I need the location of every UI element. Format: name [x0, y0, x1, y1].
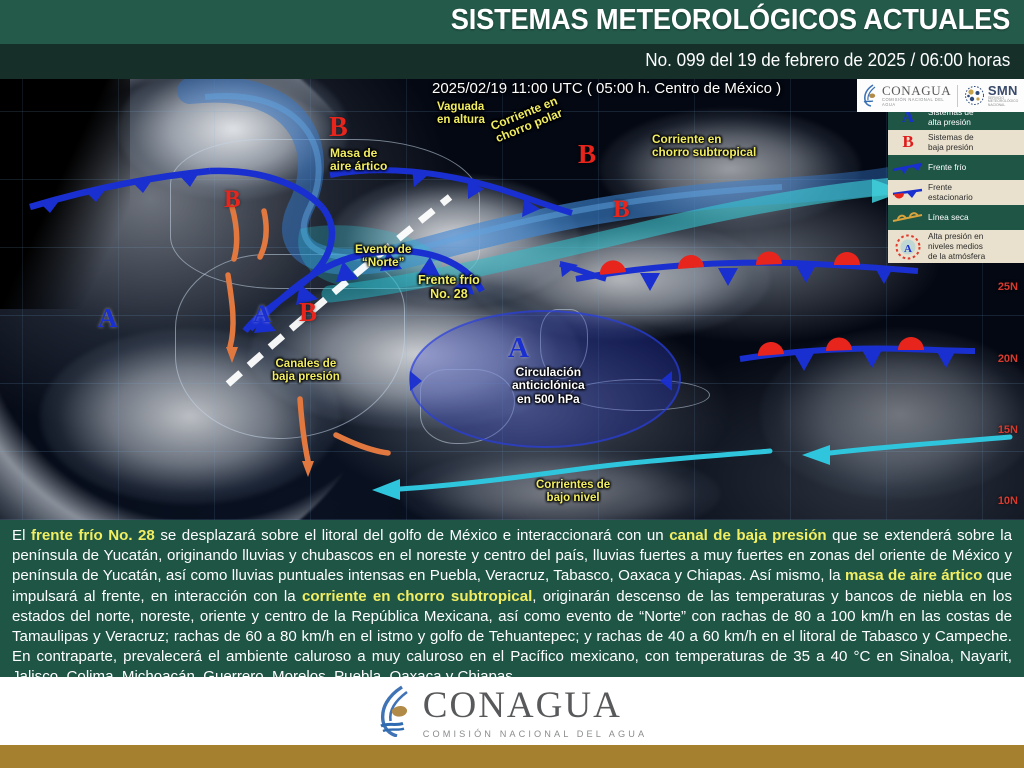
map-timestamp: 2025/02/19 11:00 UTC ( 05:00 h. Centro d… — [432, 80, 781, 97]
highlighted-term: masa de aire ártico — [845, 567, 982, 584]
highlighted-term: corriente en chorro subtropical — [302, 588, 532, 605]
legend-label: Frente estacionario — [928, 183, 977, 203]
footer-conagua-tagline: COMISIÓN NACIONAL DEL AGUA — [423, 729, 647, 739]
weather-systems-overlay — [0, 79, 1024, 520]
annotation-circulacion-anticiclonica: Circulación anticiclónica en 500 hPa — [512, 366, 585, 406]
conagua-tagline: COMISIÓN NACIONAL DEL AGUA — [882, 98, 951, 106]
conagua-logo: CONAGUA COMISIÓN NACIONAL DEL AGUA — [857, 84, 951, 107]
page-title: SISTEMAS METEOROLÓGICOS ACTUALES — [451, 4, 1010, 37]
annotation-canales-de-baja-presion: Canales de baja presión — [272, 358, 340, 384]
smn-emblem-icon — [964, 85, 985, 106]
annotation-masa-de-aire-artico: Masa de aire ártico — [330, 147, 387, 174]
annotation-corrientes-de-bajo-nivel: Corrientes de bajo nivel — [536, 479, 610, 505]
legend-label: Alta presión en niveles medios de la atm… — [928, 232, 989, 261]
legend-label: Línea seca — [928, 213, 973, 223]
annotation-corriente-chorro-subtropical: Corriente en chorro subtropical — [652, 133, 756, 159]
footer-conagua-name: CONAGUA — [423, 684, 647, 727]
forecast-text-block: El frente frío No. 28 se desplazará sobr… — [0, 520, 1024, 677]
high-pressure-marker: A — [508, 332, 529, 365]
legend-label: Sistemas de baja presión — [928, 133, 978, 153]
high-pressure-marker: A — [98, 303, 118, 334]
legend-item-stationary-front[interactable]: Frente estacionario — [888, 180, 1024, 205]
low-pressure-marker: B — [329, 112, 348, 144]
legend-item-cold-front[interactable]: Frente frío — [888, 155, 1024, 180]
legend-item-low-pressure[interactable]: B Sistemas de baja presión — [888, 130, 1024, 155]
conagua-wave-icon — [862, 84, 879, 107]
forecast-paragraph: El frente frío No. 28 se desplazará sobr… — [12, 526, 1012, 688]
cold-front-icon — [888, 160, 928, 175]
footer-gold-bar — [0, 745, 1024, 768]
smn-tagline: SERVICIO METEOROLÓGICO NACIONAL — [988, 97, 1024, 107]
map-legend: A Sistemas de alta presión B Sistemas de… — [888, 105, 1024, 263]
low-pressure-marker: B — [299, 297, 317, 328]
annotation-frente-frio-no-28: Frente frío No. 28 — [418, 273, 480, 301]
map-logo-bar: CONAGUA COMISIÓN NACIONAL DEL AGUA — [857, 79, 1024, 112]
low-pressure-B-icon: B — [888, 132, 928, 152]
body-text-segment: se desplazará sobre el litoral del golfo… — [155, 527, 669, 544]
footer: CONAGUA COMISIÓN NACIONAL DEL AGUA — [0, 677, 1024, 745]
low-pressure-marker: B — [224, 186, 241, 214]
conagua-wave-icon — [377, 685, 415, 737]
cold-front-28 — [30, 171, 332, 331]
legend-item-dry-line[interactable]: Línea seca — [888, 205, 1024, 230]
footer-logo-text: CONAGUA COMISIÓN NACIONAL DEL AGUA — [423, 684, 647, 739]
low-pressure-marker: B — [578, 139, 596, 170]
conagua-name: CONAGUA — [882, 84, 951, 97]
smn-logo-text: SMN SERVICIO METEOROLÓGICO NACIONAL — [988, 84, 1024, 107]
weather-bulletin-page: SISTEMAS METEOROLÓGICOS ACTUALES No. 099… — [0, 0, 1024, 768]
low-level-currents — [400, 437, 1010, 489]
svg-text:A: A — [904, 243, 912, 255]
legend-item-mid-level-high[interactable]: A Alta presión en niveles medios de la a… — [888, 230, 1024, 263]
stationary-front-upper — [576, 251, 918, 291]
mid-level-high-icon: A — [888, 233, 928, 261]
dry-line-icon — [888, 210, 928, 225]
body-text-segment: El — [12, 527, 31, 544]
highlighted-term: canal de baja presión — [669, 527, 826, 544]
bulletin-number-date: No. 099 del 19 de febrero de 2025 / 06:0… — [645, 50, 1010, 71]
logo-divider — [957, 85, 958, 107]
conagua-logo-text: CONAGUA COMISIÓN NACIONAL DEL AGUA — [882, 84, 951, 106]
high-pressure-marker: A — [253, 301, 271, 329]
stationary-front-lower — [740, 337, 975, 371]
highlighted-term: frente frío No. 28 — [31, 527, 155, 544]
smn-logo: SMN SERVICIO METEOROLÓGICO NACIONAL — [964, 84, 1024, 107]
smn-name: SMN — [988, 84, 1024, 97]
low-pressure-marker: B — [613, 196, 630, 224]
header-bar: SISTEMAS METEOROLÓGICOS ACTUALES — [0, 0, 1024, 44]
annotation-evento-de-norte: Evento de “Norte” — [355, 243, 411, 269]
footer-conagua-logo: CONAGUA COMISIÓN NACIONAL DEL AGUA — [377, 684, 647, 739]
stationary-front-icon — [888, 185, 928, 200]
annotation-vaguada-en-altura: Vaguada en altura — [437, 101, 485, 127]
legend-label: Frente frío — [928, 163, 970, 173]
satellite-weather-map[interactable]: 25N 20N 15N 10N Vaguada en altura Masa d… — [0, 79, 1024, 520]
header-subtitle-bar: No. 099 del 19 de febrero de 2025 / 06:0… — [0, 44, 1024, 79]
